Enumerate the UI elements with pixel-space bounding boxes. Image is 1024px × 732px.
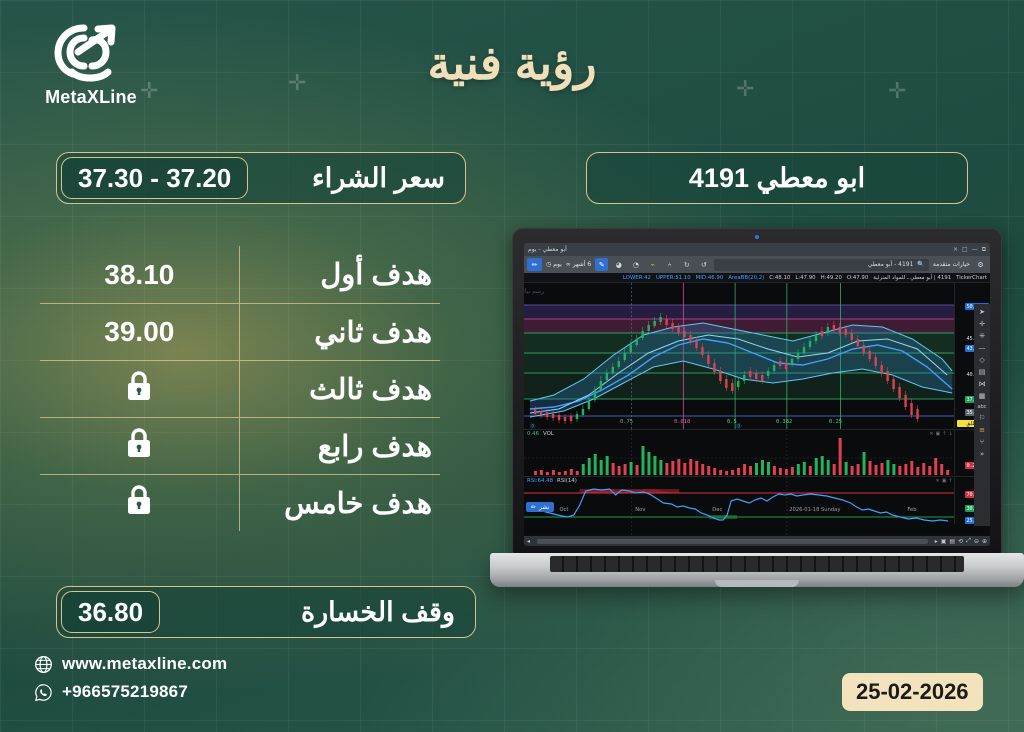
maximize-icon[interactable]: ▣ bbox=[942, 478, 947, 484]
x-tick: Oct bbox=[559, 507, 568, 513]
layout-icon[interactable]: ▤ bbox=[949, 538, 955, 545]
brand-name: MetaXLine bbox=[26, 87, 156, 108]
page-title: رؤية فنية bbox=[0, 36, 1024, 90]
target-label: هدف ثاني bbox=[240, 315, 440, 350]
close-icon[interactable]: ✕ bbox=[935, 478, 939, 484]
bars-icon[interactable]: ⑃ bbox=[663, 258, 676, 271]
volume-value: 0.46 bbox=[527, 431, 539, 437]
zoom-in-icon[interactable]: ⊕ bbox=[982, 538, 987, 545]
whatsapp-icon bbox=[34, 683, 53, 702]
collapse-icon[interactable]: « bbox=[980, 450, 984, 458]
quote-source: TickerChart bbox=[956, 275, 987, 281]
timeframe-label: يوم bbox=[553, 261, 561, 268]
symbol-search-value: 4191 - أبو معطي bbox=[718, 261, 913, 268]
zoom-area-icon[interactable]: ⤢ bbox=[966, 537, 971, 545]
close-icon[interactable]: ✕ bbox=[929, 431, 933, 437]
laptop-notch bbox=[715, 580, 799, 587]
app-window-title: أبو معطي - يوم bbox=[528, 246, 567, 253]
x-tick-current: 2026-01-18 Sunday bbox=[789, 507, 840, 513]
table-row: هدف ثاني 39.00 bbox=[40, 303, 440, 360]
trendline-icon[interactable]: — bbox=[979, 344, 986, 352]
rsi-header: RSI(14) RSI:64.48 bbox=[527, 478, 577, 484]
range-label: 6 أشهر bbox=[573, 261, 592, 268]
buy-price-pill: سعر الشراء 37.20 - 37.30 bbox=[56, 152, 466, 204]
quote-symbol: 4191 | أبو معطي ـ للمواد المنزلية bbox=[873, 275, 951, 281]
quote-line: TickerChart 4191 | أبو معطي ـ للمواد الم… bbox=[524, 273, 990, 282]
volume-pane[interactable]: VOL 0.46 ✕▣ ↑↓ ◉⋯ bbox=[524, 429, 990, 475]
x-tick: Dec bbox=[712, 507, 722, 513]
pen-tool-icon: ✏ bbox=[531, 504, 536, 511]
phone-text: +966575219867 bbox=[62, 682, 188, 702]
lock-icon bbox=[124, 426, 154, 460]
rsi-value: RSI:64.48 bbox=[527, 478, 553, 484]
app-bottom-bar[interactable]: ◂ ▸ ▣ ▤ ⟲ ⤢ ⊖ ⊕ bbox=[524, 536, 990, 546]
lock-icon bbox=[124, 369, 154, 403]
globe-icon bbox=[34, 655, 53, 674]
price-chart-svg: رسم بياني bbox=[524, 283, 990, 429]
drawing-tools-sidebar[interactable]: ➤ ✛ ⁜ — ◇ ▤ ⋈ ▦ abc ⚐ ≡ ⑂ « bbox=[974, 304, 990, 526]
pattern-icon[interactable]: ▤ bbox=[979, 368, 986, 376]
rsi-chart-svg bbox=[524, 477, 990, 535]
undo-icon[interactable]: ↺ bbox=[697, 258, 710, 271]
laptop-keyboard bbox=[550, 556, 964, 572]
target-label: هدف خامس bbox=[240, 486, 440, 521]
redo-icon[interactable]: ↻ bbox=[680, 258, 693, 271]
rsi-label: RSI(14) bbox=[557, 478, 577, 484]
infinity-icon: ∞ bbox=[566, 261, 571, 268]
row-divider bbox=[239, 418, 240, 474]
maximize-icon[interactable]: ▣ bbox=[935, 431, 940, 437]
restore-icon[interactable]: ⧉ bbox=[982, 246, 986, 254]
settings-sliders-icon[interactable]: ≡ bbox=[979, 426, 985, 434]
table-row: هدف ثالث bbox=[40, 360, 440, 417]
range-button[interactable]: 6 أشهر ∞ bbox=[566, 261, 592, 268]
symbol-pill: ابو معطي 4191 bbox=[586, 152, 968, 204]
indicator-icon[interactable]: ⌁ bbox=[646, 258, 659, 271]
app-titlebar: × □ — ⧉ أبو معطي - يوم bbox=[524, 243, 990, 256]
target-value-locked bbox=[40, 426, 239, 467]
volume-chart-svg bbox=[524, 430, 990, 476]
website-row[interactable]: www.metaxline.com bbox=[34, 650, 227, 678]
measure-icon[interactable]: ⑂ bbox=[980, 438, 984, 446]
laptop-lid: × □ — ⧉ أبو معطي - يوم ⚙ خيارات متقدمة 🔍… bbox=[512, 228, 1002, 555]
ellipse-icon[interactable]: ◇ bbox=[979, 356, 984, 364]
webcam-icon bbox=[755, 235, 759, 239]
chart-panes: رسم بياني 0.75 0.618 0.5 0.382 0.25 Ⓓ Ⓓ … bbox=[524, 282, 990, 536]
gear-icon[interactable]: ⚙ bbox=[974, 258, 987, 271]
volume-header: VOL 0.46 bbox=[527, 431, 554, 437]
x-tick: Nov bbox=[635, 507, 645, 513]
move-up-icon[interactable]: ↑ bbox=[942, 431, 946, 437]
target-label: هدف ثالث bbox=[240, 372, 440, 407]
website-text: www.metaxline.com bbox=[62, 654, 227, 674]
target-label: هدف أول bbox=[240, 257, 440, 292]
table-row: هدف خامس bbox=[40, 474, 440, 531]
crosshair-icon[interactable]: ✛ bbox=[979, 320, 985, 328]
target-value: 39.00 bbox=[40, 316, 239, 348]
symbol-label: ابو معطي 4191 bbox=[673, 163, 881, 194]
maximize-icon[interactable]: □ bbox=[962, 246, 968, 254]
table-row: هدف رابع bbox=[40, 417, 440, 474]
target-label: هدف رابع bbox=[240, 429, 440, 464]
publish-label: نشر bbox=[539, 504, 549, 511]
search-icon: 🔍 bbox=[917, 261, 924, 268]
x-axis-labels: Oct Nov Dec 2026-01-18 Sunday Feb bbox=[526, 507, 950, 513]
replay-icon[interactable]: ◕ bbox=[612, 258, 625, 271]
compare-icon[interactable]: ✎ bbox=[595, 258, 608, 271]
table-row: هدف أول 38.10 bbox=[40, 246, 440, 303]
symbol-search-input[interactable]: 🔍 4191 - أبو معطي bbox=[714, 259, 929, 271]
target-value-locked bbox=[40, 369, 239, 410]
app-toolbar: ⚙ خيارات متقدمة 🔍 4191 - أبو معطي ↺ ↻ ⑃ … bbox=[524, 256, 990, 273]
close-icon[interactable]: × bbox=[953, 246, 958, 254]
volume-label: VOL bbox=[543, 431, 554, 437]
contact-block: www.metaxline.com +966575219867 bbox=[34, 650, 227, 706]
scroll-right-icon[interactable]: ▸ bbox=[935, 538, 938, 545]
phone-row[interactable]: +966575219867 bbox=[34, 678, 227, 706]
fib-label: 0.618 bbox=[674, 419, 690, 425]
quote-close: C:48.10 bbox=[769, 275, 790, 281]
buy-price-label: سعر الشراء bbox=[296, 163, 461, 194]
chart-watermark: رسم بياني bbox=[524, 288, 544, 295]
scroll-left-icon[interactable]: ◂ bbox=[527, 538, 530, 545]
quote-indicator-lower: LOWER:42 bbox=[623, 275, 651, 281]
target-value: 38.10 bbox=[40, 259, 239, 291]
timeframe-button[interactable]: يوم ◷ bbox=[546, 261, 562, 268]
zoom-out-icon[interactable]: ⊖ bbox=[974, 538, 979, 545]
row-divider bbox=[239, 361, 240, 417]
trading-app: × □ — ⧉ أبو معطي - يوم ⚙ خيارات متقدمة 🔍… bbox=[524, 243, 990, 546]
window-controls[interactable]: × □ — ⧉ bbox=[953, 246, 986, 254]
horizontal-scrollbar[interactable] bbox=[537, 539, 928, 544]
flag-icon[interactable]: ⚐ bbox=[979, 414, 985, 422]
x-tick: Feb bbox=[907, 507, 916, 513]
quote-open: O:47.90 bbox=[847, 275, 868, 281]
fib-label: 0.75 bbox=[620, 419, 633, 425]
laptop-mockup: × □ — ⧉ أبو معطي - يوم ⚙ خيارات متقدمة 🔍… bbox=[490, 228, 1024, 600]
pen-tool-icon[interactable]: ✏ bbox=[527, 258, 542, 271]
reset-icon[interactable]: ⟲ bbox=[958, 538, 963, 545]
clock-icon: ◷ bbox=[546, 261, 551, 268]
fib-label: 0.25 bbox=[829, 419, 842, 425]
advanced-options-button[interactable]: خيارات متقدمة bbox=[933, 261, 970, 268]
lock-icon bbox=[124, 483, 154, 517]
dot-crosshair-icon[interactable]: ⁜ bbox=[979, 332, 985, 340]
text-abc-icon[interactable]: abc bbox=[978, 404, 987, 410]
price-pane[interactable]: رسم بياني 0.75 0.618 0.5 0.382 0.25 Ⓓ Ⓓ … bbox=[524, 282, 990, 428]
row-divider bbox=[239, 475, 240, 531]
grid-icon[interactable]: ▦ bbox=[979, 392, 986, 400]
quote-high: H:49.20 bbox=[821, 275, 842, 281]
move-up-icon[interactable]: ↑ bbox=[948, 478, 952, 484]
snapshot-icon[interactable]: ▣ bbox=[941, 538, 947, 545]
row-divider bbox=[239, 246, 240, 303]
quote-low: L:47.90 bbox=[795, 275, 815, 281]
stop-loss-pill: وقف الخسارة 36.80 bbox=[56, 586, 476, 638]
laptop-screen: × □ — ⧉ أبو معطي - يوم ⚙ خيارات متقدمة 🔍… bbox=[524, 243, 990, 546]
cursor-icon[interactable]: ➤ bbox=[979, 308, 985, 316]
target-value-locked bbox=[40, 483, 239, 524]
date-badge: 25-02-2026 bbox=[842, 673, 983, 711]
targets-table: هدف أول 38.10 هدف ثاني 39.00 هدف ثالث هد… bbox=[40, 246, 440, 531]
minimize-icon[interactable]: — bbox=[972, 246, 978, 254]
alert-icon[interactable]: ◔ bbox=[629, 258, 642, 271]
publish-button[interactable]: نشر ✏ bbox=[526, 502, 554, 512]
fib-icon[interactable]: ⋈ bbox=[979, 380, 986, 388]
quote-indicator-upper: UPPER:51.10 bbox=[656, 275, 691, 281]
rsi-pane[interactable]: RSI(14) RSI:64.48 ✕▣ ↑◉ ⋯ bbox=[524, 476, 990, 524]
stop-loss-label: وقف الخسارة bbox=[285, 597, 471, 628]
row-divider bbox=[239, 304, 240, 360]
fib-label: 0.382 bbox=[776, 419, 792, 425]
stop-loss-value: 36.80 bbox=[61, 591, 160, 633]
move-down-icon[interactable]: ↓ bbox=[948, 431, 952, 437]
quote-indicator-mid: MID:46.90 bbox=[696, 275, 724, 281]
quote-indicator-name: AreaBB(20,2) bbox=[728, 275, 764, 281]
buy-price-value: 37.20 - 37.30 bbox=[61, 157, 248, 199]
